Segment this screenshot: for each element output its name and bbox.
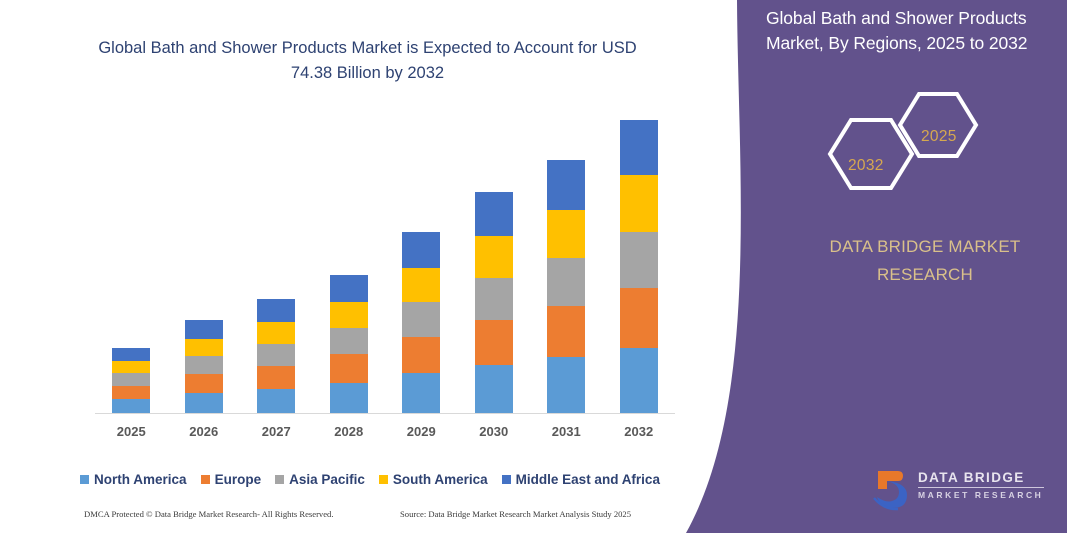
bar-2031 [547,160,585,414]
bar-segment [402,268,440,303]
bar-segment [475,236,513,278]
bar-segment [330,275,368,302]
x-axis-labels: 20252026202720282029203020312032 [95,424,675,444]
legend-label: North America [94,472,187,487]
bar-segment [112,361,150,374]
bar-segment [547,160,585,210]
logo-mark-icon [872,468,916,512]
bar-segment [330,328,368,354]
bar-segment [185,320,223,339]
bar-segment [185,374,223,393]
legend-swatch-icon [379,475,388,484]
bar-segment [475,320,513,365]
bar-segment [475,278,513,320]
bar-segment [402,373,440,414]
footer: DMCA Protected © Data Bridge Market Rese… [0,506,740,526]
hexagon-badges: 2025 2032 [818,92,998,207]
bar-segment [620,175,658,232]
legend-item[interactable]: South America [379,472,488,487]
legend-item[interactable]: Middle East and Africa [502,472,660,487]
bar-segment [330,354,368,382]
legend-swatch-icon [80,475,89,484]
legend-label: South America [393,472,488,487]
bar-segment [330,302,368,328]
legend-label: Asia Pacific [289,472,365,487]
bar-segment [185,339,223,357]
legend-swatch-icon [275,475,284,484]
page-title: Global Bath and Shower Products Market i… [95,36,640,86]
brand-name-line2: RESEARCH [800,261,1050,289]
legend-label: Middle East and Africa [516,472,660,487]
bar-segment [620,348,658,414]
bar-segment [547,306,585,357]
bar-segment [402,302,440,337]
bar-segment [547,210,585,258]
bar-segment [257,389,295,414]
chart-legend: North AmericaEuropeAsia PacificSouth Ame… [0,472,740,487]
data-bridge-logo: DATA BRIDGE MARKET RESEARCH [872,468,1057,514]
bar-2027 [257,299,295,414]
bar-2030 [475,192,513,414]
bar-segment [112,386,150,400]
bar-segment [257,322,295,344]
bar-segment [620,120,658,175]
x-axis-label-2025: 2025 [95,424,167,439]
legend-item[interactable]: North America [80,472,187,487]
hexagon-outlines [818,92,998,207]
x-axis-label-2026: 2026 [168,424,240,439]
bar-segment [475,365,513,414]
x-axis-label-2032: 2032 [603,424,675,439]
logo-text-primary: DATA BRIDGE [918,470,1025,485]
legend-label: Europe [215,472,262,487]
infographic-canvas: Global Bath and Shower Products Market, … [0,0,1067,533]
brand-name: DATA BRIDGE MARKET RESEARCH [800,233,1050,289]
bar-segment [257,366,295,389]
bar-2029 [402,232,440,414]
x-axis-label-2030: 2030 [458,424,530,439]
bar-2028 [330,275,368,414]
panel-title: Global Bath and Shower Products Market, … [766,6,1056,56]
hexagon-2025-shape [900,94,976,156]
bar-segment [112,348,150,361]
bar-2026 [185,320,223,414]
bar-segment [112,399,150,414]
bar-segment [330,383,368,414]
x-axis-label-2031: 2031 [530,424,602,439]
bar-segment [620,232,658,289]
legend-swatch-icon [502,475,511,484]
legend-swatch-icon [201,475,210,484]
x-axis-label-2027: 2027 [240,424,312,439]
bar-segment [257,299,295,322]
bar-segment [547,357,585,414]
logo-divider [918,487,1044,488]
bar-segment [402,232,440,268]
bar-segment [547,258,585,306]
bar-segment [620,288,658,348]
bar-2032 [620,120,658,414]
hexagon-2032-shape [830,120,912,188]
x-axis-label-2028: 2028 [313,424,385,439]
hexagon-2032-label: 2032 [848,157,884,175]
logo-text-secondary: MARKET RESEARCH [918,490,1043,500]
x-axis-line [95,413,675,414]
bar-segment [475,192,513,236]
legend-item[interactable]: Asia Pacific [275,472,365,487]
hexagon-2025-label: 2025 [921,128,957,146]
x-axis-label-2029: 2029 [385,424,457,439]
bar-2025 [112,348,150,414]
bar-segment [185,393,223,414]
footer-copyright: DMCA Protected © Data Bridge Market Rese… [84,509,334,519]
bar-segment [112,373,150,386]
bar-segment [402,337,440,374]
bar-segment [257,344,295,366]
stacked-bar-chart [95,100,675,414]
footer-source: Source: Data Bridge Market Research Mark… [400,509,631,519]
legend-item[interactable]: Europe [201,472,262,487]
brand-name-line1: DATA BRIDGE MARKET [800,233,1050,261]
bar-segment [185,356,223,374]
